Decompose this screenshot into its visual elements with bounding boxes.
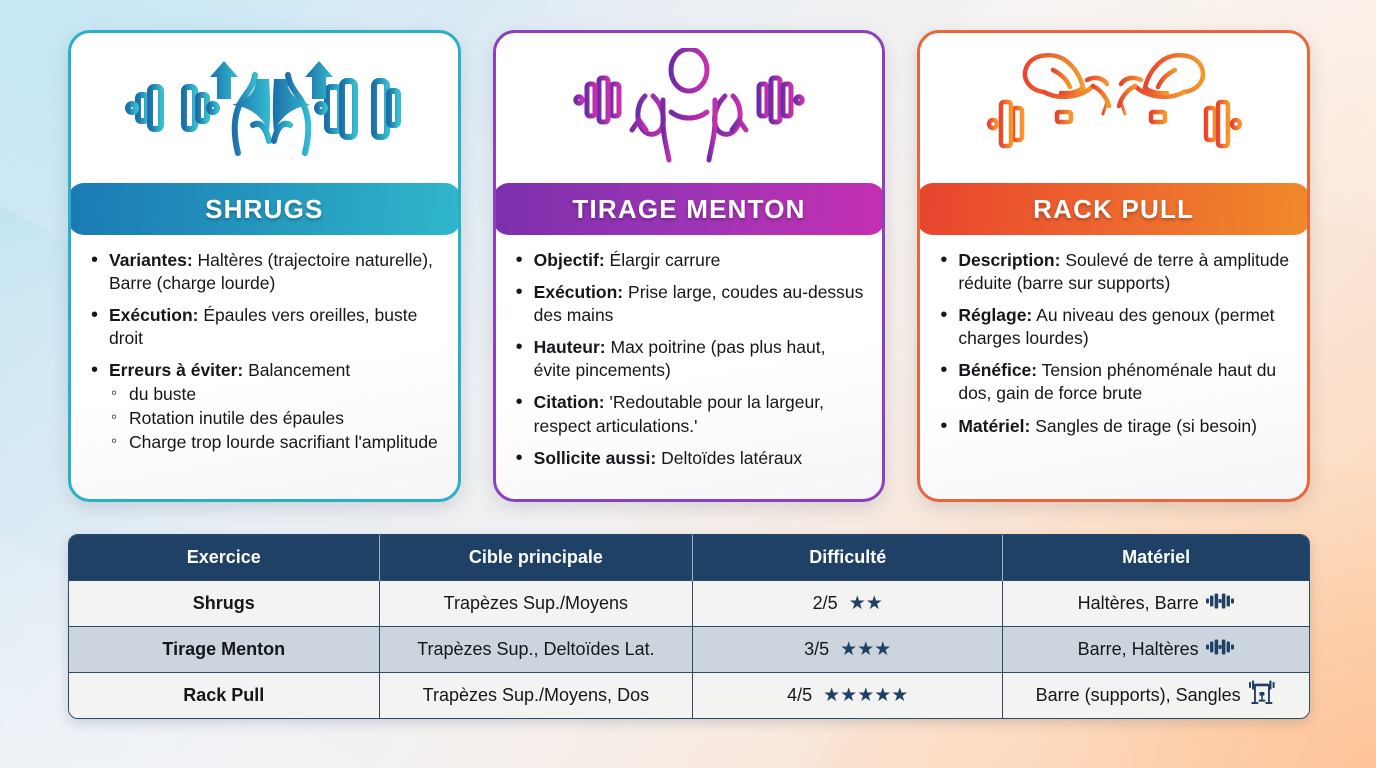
flexed-arms-power-rack-icon (969, 46, 1259, 171)
sub-bullet-item: Charge trop lourde sacrifiant l'amplitud… (109, 431, 442, 454)
shrugs-bullets: Variantes: Haltères (trajectoire naturel… (71, 235, 458, 499)
bullet-item: Exécution: Épaules vers oreilles, buste … (89, 304, 442, 350)
column-header-exercice: Exercice (69, 535, 379, 580)
shrugs-icon-area (71, 33, 458, 183)
table-header-row: Exercice Cible principale Difficulté Mat… (69, 535, 1309, 580)
bullet-label: Matériel: (958, 416, 1030, 436)
bullet-label: Sollicite aussi: (534, 448, 657, 468)
sub-bullet-list: du buste Rotation inutile des épaules Ch… (109, 383, 442, 453)
materiel-text: Barre (supports), Sangles (1036, 685, 1241, 706)
bullet-item: Réglage: Au niveau des genoux (permet ch… (938, 304, 1291, 350)
materiel-text: Barre, Haltères (1078, 639, 1199, 660)
bullet-item: Erreurs à éviter: Balancement du buste R… (89, 359, 442, 453)
tirage-menton-icon-area (496, 33, 883, 183)
difficulty-stars: ★★ (849, 592, 883, 615)
bullet-label: Exécution: (109, 305, 198, 325)
bullet-label: Bénéfice: (958, 360, 1037, 380)
cell-materiel: Barre, Haltères (1003, 626, 1309, 672)
bullet-item: Sollicite aussi: Deltoïdes latéraux (514, 447, 867, 470)
card-title-tirage-menton: TIRAGE MENTON (493, 183, 886, 235)
cell-exercice: Shrugs (69, 580, 379, 626)
bullet-label: Exécution: (534, 282, 623, 302)
summary-table: Exercice Cible principale Difficulté Mat… (68, 534, 1310, 719)
bullet-label: Hauteur: (534, 337, 606, 357)
table-row: Tirage Menton Trapèzes Sup., Deltoïdes L… (69, 626, 1309, 672)
difficulty-value: 2/5 (813, 593, 838, 614)
bullet-item: Matériel: Sangles de tirage (si besoin) (938, 415, 1291, 438)
table-row: Rack Pull Trapèzes Sup./Moyens, Dos 4/5 … (69, 672, 1309, 718)
upright-row-barbell-icon (549, 48, 829, 168)
cell-difficulte: 3/5 ★★★ (693, 626, 1003, 672)
exercise-cards: SHRUGS Variantes: Haltères (trajectoire … (68, 30, 1310, 502)
rack-pull-bullets: Description: Soulevé de terre à amplitud… (920, 235, 1307, 499)
cell-cible: Trapèzes Sup., Deltoïdes Lat. (379, 626, 693, 672)
card-tirage-menton: TIRAGE MENTON Objectif: Élargir carrure … (493, 30, 886, 502)
difficulty-value: 3/5 (804, 639, 829, 660)
traps-shrug-dumbbells-icon (114, 53, 414, 163)
cell-cible: Trapèzes Sup./Moyens, Dos (379, 672, 693, 718)
sub-bullet-item: du buste (109, 383, 442, 406)
bullet-item: Exécution: Prise large, coudes au-dessus… (514, 281, 867, 327)
bullet-item: Description: Soulevé de terre à amplitud… (938, 249, 1291, 295)
bullet-item: Bénéfice: Tension phénoménale haut du do… (938, 359, 1291, 405)
power-rack-icon (1247, 680, 1277, 711)
cell-cible: Trapèzes Sup./Moyens (379, 580, 693, 626)
cell-exercice: Rack Pull (69, 672, 379, 718)
bullet-item: Variantes: Haltères (trajectoire naturel… (89, 249, 442, 295)
bullet-label: Variantes: (109, 250, 193, 270)
column-header-materiel: Matériel (1003, 535, 1309, 580)
cell-materiel: Barre (supports), Sangles (1003, 672, 1309, 718)
cell-difficulte: 4/5 ★★★★★ (693, 672, 1003, 718)
column-header-cible: Cible principale (379, 535, 693, 580)
bullet-text: Balancement (248, 360, 350, 380)
column-header-difficulte: Difficulté (693, 535, 1003, 580)
bullet-label: Réglage: (958, 305, 1032, 325)
card-title-rack-pull: RACK PULL (917, 183, 1310, 235)
bullet-item: Hauteur: Max poitrine (pas plus haut, év… (514, 336, 867, 382)
table-row: Shrugs Trapèzes Sup./Moyens 2/5 ★★ Haltè… (69, 580, 1309, 626)
card-rack-pull: RACK PULL Description: Soulevé de terre … (917, 30, 1310, 502)
sub-bullet-item: Rotation inutile des épaules (109, 407, 442, 430)
difficulty-value: 4/5 (787, 685, 812, 706)
bullet-label: Objectif: (534, 250, 605, 270)
dumbbell-icon (1205, 638, 1235, 661)
card-shrugs: SHRUGS Variantes: Haltères (trajectoire … (68, 30, 461, 502)
dumbbell-icon (1205, 592, 1235, 615)
cell-difficulte: 2/5 ★★ (693, 580, 1003, 626)
bullet-text: Sangles de tirage (si besoin) (1035, 416, 1257, 436)
bullet-label: Erreurs à éviter: (109, 360, 243, 380)
bullet-item: Citation: 'Redoutable pour la largeur, r… (514, 391, 867, 437)
bullet-label: Description: (958, 250, 1060, 270)
tirage-menton-bullets: Objectif: Élargir carrure Exécution: Pri… (496, 235, 883, 499)
bullet-item: Objectif: Élargir carrure (514, 249, 867, 272)
difficulty-stars: ★★★★★ (823, 684, 908, 707)
materiel-text: Haltères, Barre (1078, 593, 1199, 614)
bullet-text: Deltoïdes latéraux (661, 448, 802, 468)
difficulty-stars: ★★★ (840, 638, 891, 661)
bullet-label: Citation: (534, 392, 605, 412)
card-title-shrugs: SHRUGS (68, 183, 461, 235)
bullet-text: Élargir carrure (610, 250, 721, 270)
cell-exercice: Tirage Menton (69, 626, 379, 672)
cell-materiel: Haltères, Barre (1003, 580, 1309, 626)
rack-pull-icon-area (920, 33, 1307, 183)
